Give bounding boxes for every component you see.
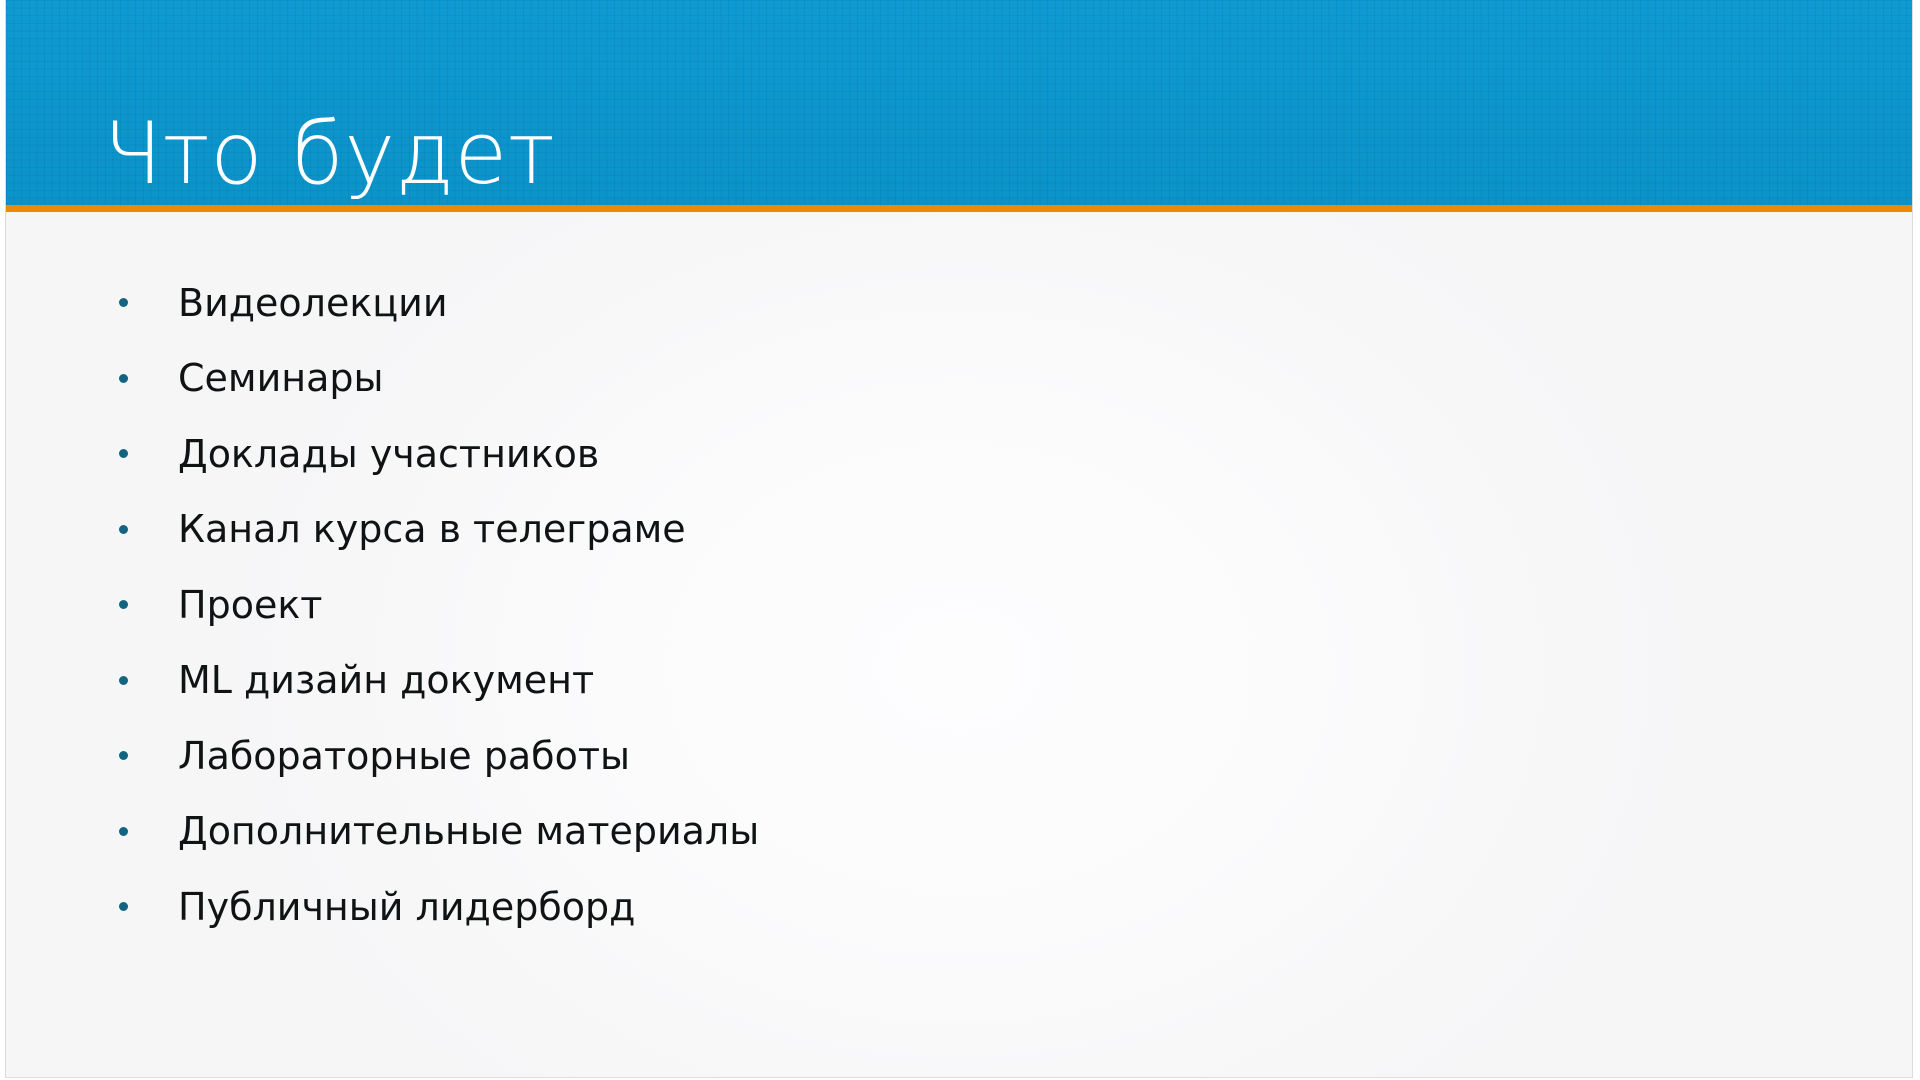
bullet-dot-icon [119,449,128,458]
list-item: Публичный лидерборд [6,869,1912,945]
list-item-label: Доклады участников [178,435,599,473]
list-item: Семинары [6,341,1912,417]
list-item-label: Публичный лидерборд [178,888,635,926]
bullet-list: Видеолекции Семинары Доклады участников … [6,265,1912,945]
list-item: Дополнительные материалы [6,794,1912,870]
list-item: Доклады участников [6,416,1912,492]
list-item-label: Семинары [178,359,384,397]
list-item-label: ML дизайн документ [178,661,594,699]
presentation-slide: Что будет Видеолекции Семинары Доклады у… [0,0,1920,1080]
bullet-dot-icon [119,751,128,760]
list-item-label: Лабораторные работы [178,737,630,775]
slide-frame: Что будет Видеолекции Семинары Доклады у… [5,0,1913,1078]
bullet-dot-icon [119,525,128,534]
list-item: Проект [6,567,1912,643]
bullet-dot-icon [119,676,128,685]
bullet-dot-icon [119,298,128,307]
list-item-label: Дополнительные материалы [178,812,759,850]
list-item-label: Видеолекции [178,284,448,322]
list-item-label: Проект [178,586,322,624]
list-item: Лабораторные работы [6,718,1912,794]
bullet-dot-icon [119,827,128,836]
bullet-dot-icon [119,902,128,911]
page-title: Что будет [103,105,1803,204]
list-item: ML дизайн документ [6,643,1912,719]
list-item: Канал курса в телеграме [6,492,1912,568]
list-item: Видеолекции [6,265,1912,341]
accent-divider [6,205,1912,212]
bullet-dot-icon [119,600,128,609]
bullet-dot-icon [119,374,128,383]
list-item-label: Канал курса в телеграме [178,510,686,548]
